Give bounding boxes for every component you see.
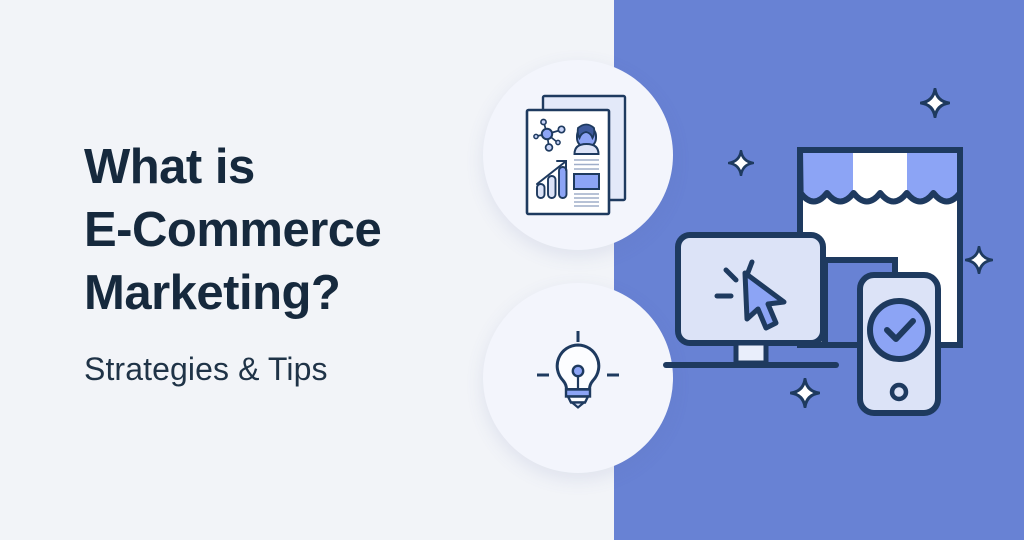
text-block: What is E-Commerce Marketing? Strategies… bbox=[84, 136, 504, 388]
sparkle-icon bbox=[965, 246, 993, 279]
document-icon-circle bbox=[483, 60, 673, 250]
lightbulb-icon-circle bbox=[483, 283, 673, 473]
ecommerce-illustration bbox=[660, 120, 1010, 420]
marketing-banner: What is E-Commerce Marketing? Strategies… bbox=[0, 0, 1024, 540]
smartphone-with-checkmark bbox=[860, 275, 938, 413]
lightbulb-idea-icon bbox=[523, 323, 633, 433]
sparkle-icon bbox=[728, 150, 754, 181]
page-subtitle: Strategies & Tips bbox=[84, 350, 504, 388]
sparkle-icon bbox=[790, 378, 820, 413]
monitor-with-cursor bbox=[666, 235, 836, 365]
page-title: What is E-Commerce Marketing? bbox=[84, 136, 504, 325]
document-report-icon bbox=[519, 92, 637, 218]
sparkle-icon bbox=[920, 88, 950, 123]
